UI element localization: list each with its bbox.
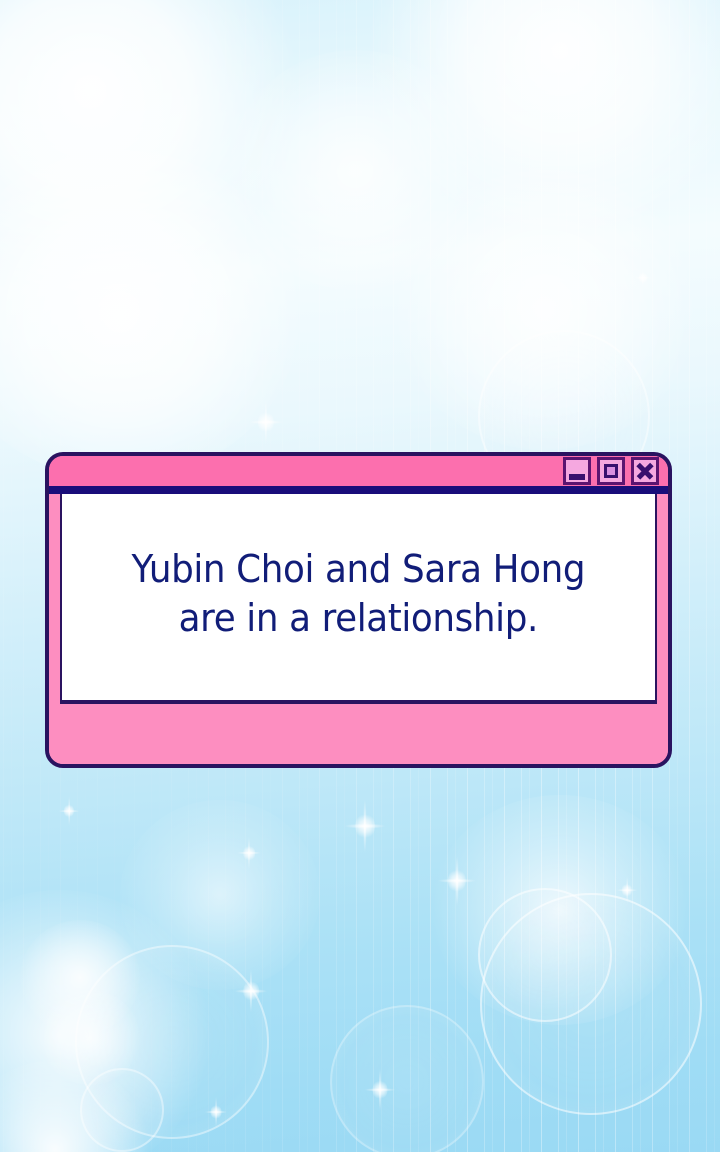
bokeh-glow — [230, 50, 480, 290]
footer-bar — [60, 704, 657, 764]
window-body: Yubin Choi and Sara Hong are in a relati… — [49, 494, 668, 764]
bokeh-glow — [40, 990, 140, 1085]
sparkle-star — [200, 1090, 232, 1134]
minimize-icon — [569, 474, 585, 480]
sparkle-star — [232, 830, 266, 876]
sparkle-star — [630, 260, 656, 296]
bokeh-glow — [120, 800, 320, 990]
sparkle-star — [336, 788, 394, 864]
bokeh-ring — [480, 893, 702, 1115]
bokeh-glow — [20, 920, 140, 1035]
screen: Yubin Choi and Sara Hong are in a relati… — [0, 0, 720, 1152]
bokeh-glow — [0, 890, 210, 1152]
bokeh-glow — [0, 0, 300, 290]
minimize-button[interactable] — [563, 457, 591, 485]
dialog-window[interactable]: Yubin Choi and Sara Hong are in a relati… — [45, 452, 672, 768]
sparkle-star — [612, 870, 642, 910]
sparkle-star — [358, 1060, 402, 1120]
sparkle-star — [242, 390, 290, 454]
bokeh-glow — [0, 1060, 150, 1152]
sparkle-star — [430, 845, 484, 917]
sparkle-star — [228, 960, 274, 1022]
title-bar[interactable] — [49, 456, 668, 494]
content-area: Yubin Choi and Sara Hong are in a relati… — [60, 494, 657, 704]
bokeh-glow — [395, 170, 695, 450]
window-controls — [563, 457, 659, 485]
bokeh-glow — [370, 0, 720, 230]
dialog-message: Yubin Choi and Sara Hong are in a relati… — [132, 545, 586, 648]
close-button[interactable] — [631, 457, 659, 485]
bokeh-ring — [330, 1005, 484, 1152]
bokeh-ring — [80, 1068, 164, 1152]
maximize-button[interactable] — [597, 457, 625, 485]
sparkle-star — [54, 790, 84, 832]
bokeh-glow — [430, 795, 690, 1025]
bokeh-glow — [0, 150, 300, 480]
bokeh-ring — [478, 888, 612, 1022]
maximize-icon — [604, 464, 618, 478]
bokeh-ring — [75, 945, 269, 1139]
